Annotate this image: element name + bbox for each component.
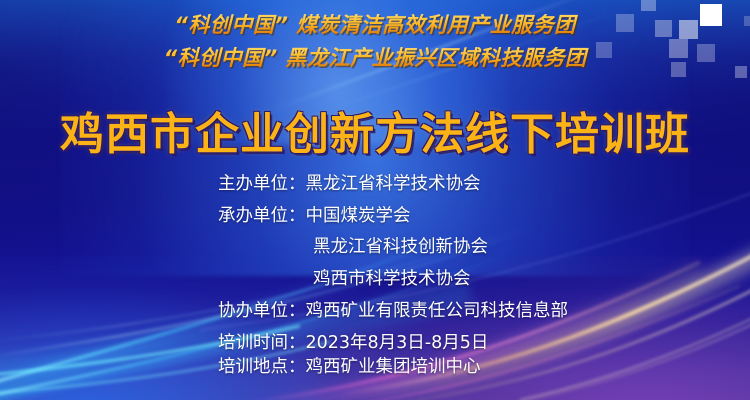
detail-row: 鸡西市科学技术协会 xyxy=(0,271,750,289)
detail-label: 承办单位： xyxy=(218,208,306,226)
detail-value: 黑龙江省科技创新协会 xyxy=(313,239,488,257)
detail-row: 培训时间：2023年8月3日-8月5日 xyxy=(0,335,750,353)
detail-value: 2023年8月3日-8月5日 xyxy=(306,335,489,353)
kicker-line-2: “科创中国” 黑龙江产业振兴区域科技服务团 xyxy=(0,42,750,72)
detail-value: 黑龙江省科学技术协会 xyxy=(306,176,481,194)
detail-label: 主办单位： xyxy=(218,176,306,194)
kicker-line-1: “科创中国” 煤炭清洁高效利用产业服务团 xyxy=(0,9,750,39)
detail-row: 协办单位：鸡西矿业有限责任公司科技信息部 xyxy=(0,303,750,321)
detail-label: 协办单位： xyxy=(218,303,306,321)
detail-value: 中国煤炭学会 xyxy=(306,208,411,226)
detail-row: 黑龙江省科技创新协会 xyxy=(0,239,750,257)
page-title: 鸡西市企业创新方法线下培训班 xyxy=(0,98,750,162)
detail-value: 鸡西市科学技术协会 xyxy=(313,271,471,289)
detail-row: 承办单位：中国煤炭学会 xyxy=(0,208,750,226)
detail-row: 培训地点：鸡西矿业集团培训中心 xyxy=(0,359,750,377)
detail-value: 鸡西矿业有限责任公司科技信息部 xyxy=(306,303,569,321)
detail-row: 主办单位：黑龙江省科学技术协会 xyxy=(0,176,750,194)
event-details-block: 主办单位：黑龙江省科学技术协会承办单位：中国煤炭学会黑龙江省科技创新协会鸡西市科… xyxy=(0,176,750,377)
detail-value: 鸡西矿业集团培训中心 xyxy=(306,359,481,377)
detail-label: 培训时间： xyxy=(218,335,306,353)
detail-label: 培训地点： xyxy=(218,359,306,377)
training-banner: “科创中国” 煤炭清洁高效利用产业服务团 “科创中国” 煤炭清洁高效利用产业服务… xyxy=(0,0,750,400)
